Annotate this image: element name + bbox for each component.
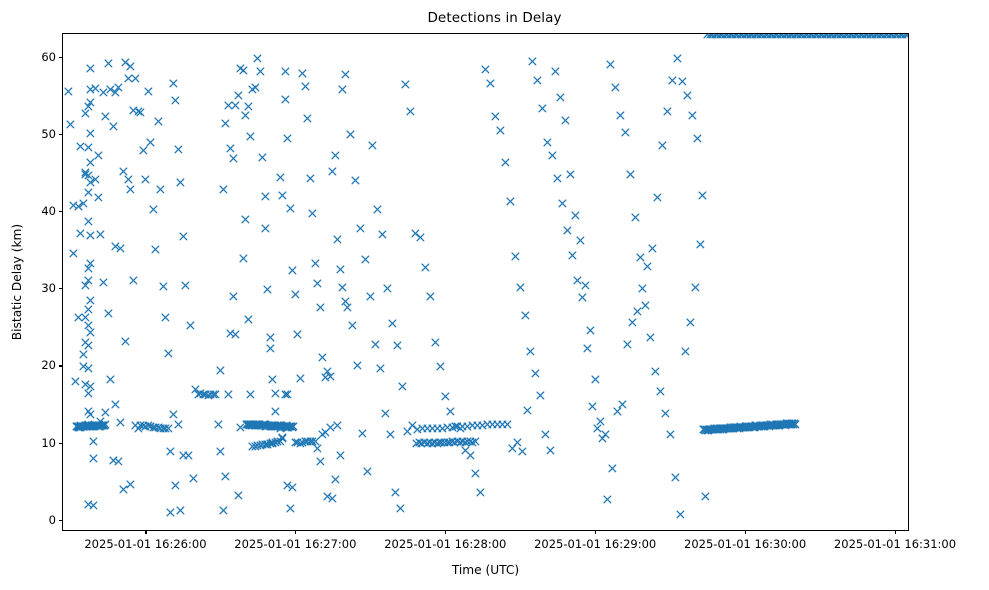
chart-title: Detections in Delay <box>0 10 989 26</box>
x-tick-label: 2025-01-01 16:28:00 <box>384 537 506 551</box>
x-tick-label: 2025-01-01 16:26:00 <box>84 537 206 551</box>
y-tick-mark <box>59 443 63 444</box>
x-tick-mark <box>445 530 446 534</box>
y-tick-mark <box>59 134 63 135</box>
plot-axes: 0102030405060 2025-01-01 16:26:002025-01… <box>62 33 909 531</box>
figure-canvas: Detections in Delay Bistatic Delay (km) … <box>0 0 989 590</box>
y-tick-mark <box>59 365 63 366</box>
x-tick-label: 2025-01-01 16:27:00 <box>234 537 356 551</box>
y-tick-label: 20 <box>41 358 56 372</box>
x-tick-label: 2025-01-01 16:31:00 <box>834 537 956 551</box>
x-tick-mark <box>145 530 146 534</box>
x-tick-mark <box>595 530 596 534</box>
x-axis-label: Time (UTC) <box>62 563 909 577</box>
x-tick-label: 2025-01-01 16:30:00 <box>684 537 806 551</box>
x-tick-label: 2025-01-01 16:29:00 <box>534 537 656 551</box>
y-tick-mark <box>59 288 63 289</box>
x-tick-mark <box>295 530 296 534</box>
y-tick-mark <box>59 211 63 212</box>
y-axis-label: Bistatic Delay (km) <box>8 33 26 531</box>
y-tick-mark <box>59 57 63 58</box>
y-tick-label: 10 <box>41 436 56 450</box>
y-tick-label: 30 <box>41 281 56 295</box>
y-tick-label: 60 <box>41 50 56 64</box>
y-tick-label: 0 <box>49 513 56 527</box>
y-tick-label: 50 <box>41 127 56 141</box>
y-tick-mark <box>59 520 63 521</box>
y-tick-label: 40 <box>41 204 56 218</box>
x-tick-mark <box>895 530 896 534</box>
x-tick-mark <box>745 530 746 534</box>
scatter-points-layer <box>63 34 908 530</box>
